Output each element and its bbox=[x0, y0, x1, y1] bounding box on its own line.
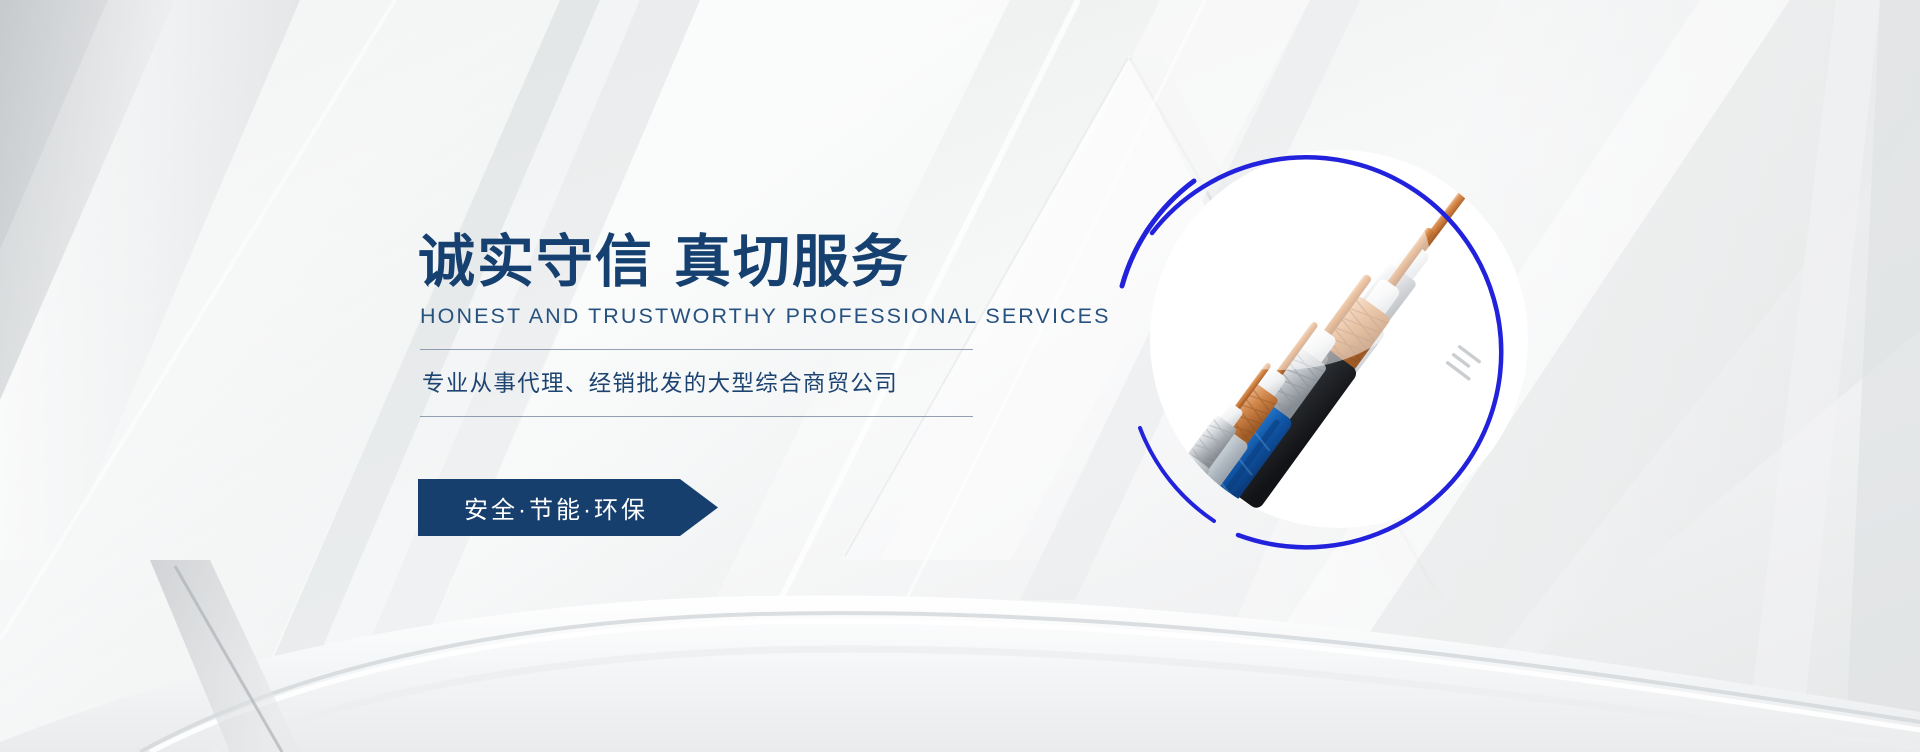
hero-banner: 诚实守信真切服务 HONEST AND TRUSTWORTHY PROFESSI… bbox=[0, 0, 1920, 752]
blue-ring-decoration bbox=[1118, 136, 1548, 566]
page-title: 诚实守信真切服务 bbox=[418, 232, 1098, 292]
subtitle-english: HONEST AND TRUSTWORTHY PROFESSIONAL SERV… bbox=[420, 304, 1098, 329]
tagline-ribbon[interactable]: 安全·节能·环保 bbox=[418, 479, 718, 536]
product-circle-area bbox=[1118, 136, 1548, 566]
title-part-1: 诚实守信 bbox=[418, 230, 654, 294]
divider-upper bbox=[420, 349, 973, 350]
title-part-2: 真切服务 bbox=[674, 230, 910, 294]
divider-lower bbox=[420, 416, 973, 417]
tagline-ribbon-wrapper: 安全·节能·环保 bbox=[418, 479, 718, 536]
tagline-text: 安全·节能·环保 bbox=[464, 490, 648, 525]
hero-text-block: 诚实守信真切服务 HONEST AND TRUSTWORTHY PROFESSI… bbox=[418, 232, 1098, 417]
subtitle-chinese: 专业从事代理、经销批发的大型综合商贸公司 bbox=[422, 366, 1098, 398]
